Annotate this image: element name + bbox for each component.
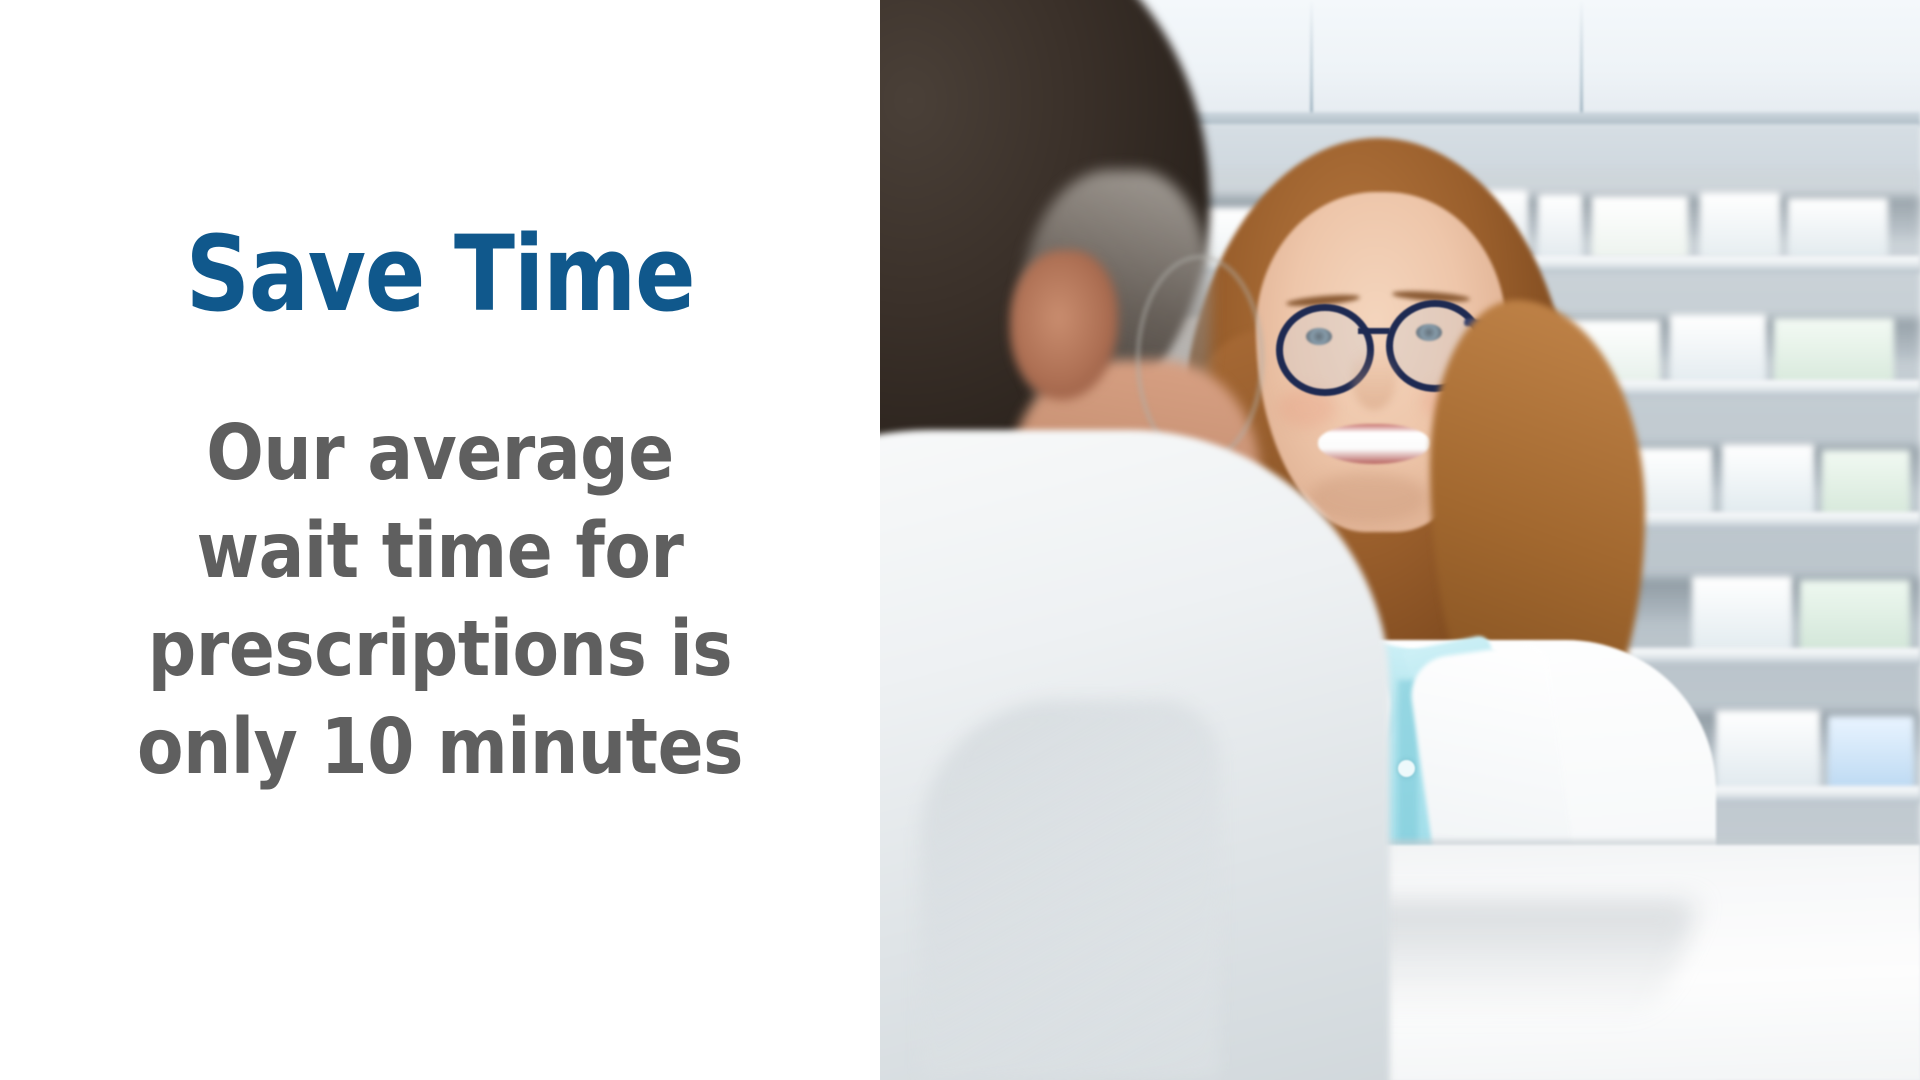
subheadline-line-4: only 10 minutes xyxy=(53,699,827,797)
medicine-box xyxy=(1828,716,1914,790)
medicine-box xyxy=(1692,576,1792,652)
subheadline-line-2: wait time for xyxy=(53,503,827,601)
medicine-box xyxy=(1774,318,1894,384)
eyeglasses-bridge xyxy=(1358,328,1390,334)
medicine-box xyxy=(1716,710,1820,790)
medicine-box xyxy=(1822,450,1910,516)
medicine-box xyxy=(1788,198,1888,258)
subheadline: Our average wait time for prescriptions … xyxy=(0,405,880,797)
chin-shadow xyxy=(1308,472,1428,524)
medicine-box xyxy=(1722,444,1814,516)
subheadline-line-1: Our average xyxy=(53,405,827,503)
customer-jacket-fold xyxy=(920,700,1220,1080)
text-panel: Save Time Our average wait time for pres… xyxy=(0,0,880,1080)
shirt-button xyxy=(1398,760,1415,777)
pharmacy-promo-banner: Save Time Our average wait time for pres… xyxy=(0,0,1920,1080)
smile xyxy=(1318,424,1430,464)
wall-divider-2 xyxy=(1310,0,1313,118)
pharmacy-photo: Pharmacist handing a white prescription … xyxy=(880,0,1920,1080)
medicine-box xyxy=(1700,192,1780,258)
medicine-box xyxy=(1800,580,1910,652)
subheadline-line-3: prescriptions is xyxy=(53,601,827,699)
page-title: Save Time xyxy=(62,222,819,326)
nose xyxy=(1352,348,1396,410)
wall-divider-3 xyxy=(1580,0,1583,118)
